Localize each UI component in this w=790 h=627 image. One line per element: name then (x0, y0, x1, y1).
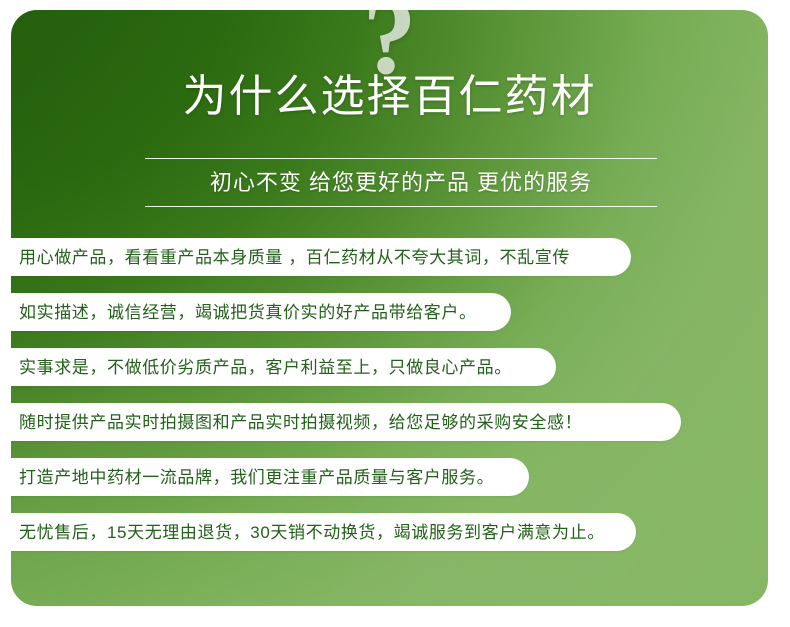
feature-pill-5: 打造产地中药材一流品牌，我们更注重产品质量与客户服务。 (11, 458, 529, 496)
feature-text: 无忧售后，15天无理由退货，30天销不动换货，竭诚服务到客户满意为止。 (19, 524, 605, 541)
rule-bottom (145, 206, 657, 207)
list-item: 随时提供产品实时拍摄图和产品实时拍摄视频，给您足够的采购安全感！ (11, 403, 768, 441)
feature-pill-1: 用心做产品，看看重产品本身质量 ，百仁药材从不夸大其词，不乱宣传 (11, 238, 631, 276)
list-item: 无忧售后，15天无理由退货，30天销不动换货，竭诚服务到客户满意为止。 (11, 513, 768, 551)
banner-title: 为什么选择百仁药材 (11, 68, 768, 125)
feature-pill-6: 无忧售后，15天无理由退货，30天销不动换货，竭诚服务到客户满意为止。 (11, 513, 636, 551)
banner-subtitle: 初心不变 给您更好的产品 更优的服务 (145, 159, 657, 206)
list-item: 如实描述，诚信经营，竭诚把货真价实的好产品带给客户。 (11, 293, 768, 331)
promo-banner: ? 为什么选择百仁药材 初心不变 给您更好的产品 更优的服务 用心做产品，看看重… (0, 0, 790, 627)
feature-pill-3: 实事求是，不做低价劣质产品，客户利益至上，只做良心产品。 (11, 348, 556, 386)
feature-text: 随时提供产品实时拍摄图和产品实时拍摄视频，给您足够的采购安全感！ (19, 414, 582, 431)
list-item: 用心做产品，看看重产品本身质量 ，百仁药材从不夸大其词，不乱宣传 (11, 238, 768, 276)
subtitle-block: 初心不变 给您更好的产品 更优的服务 (145, 158, 657, 207)
list-item: 打造产地中药材一流品牌，我们更注重产品质量与客户服务。 (11, 458, 768, 496)
feature-list: 用心做产品，看看重产品本身质量 ，百仁药材从不夸大其词，不乱宣传 如实描述，诚信… (11, 238, 768, 568)
banner-header: ? 为什么选择百仁药材 初心不变 给您更好的产品 更优的服务 (11, 10, 768, 220)
green-panel: ? 为什么选择百仁药材 初心不变 给您更好的产品 更优的服务 用心做产品，看看重… (11, 10, 768, 606)
feature-text: 打造产地中药材一流品牌，我们更注重产品质量与客户服务。 (19, 469, 494, 486)
feature-pill-4: 随时提供产品实时拍摄图和产品实时拍摄视频，给您足够的采购安全感！ (11, 403, 681, 441)
list-item: 实事求是，不做低价劣质产品，客户利益至上，只做良心产品。 (11, 348, 768, 386)
feature-pill-2: 如实描述，诚信经营，竭诚把货真价实的好产品带给客户。 (11, 293, 511, 331)
feature-text: 如实描述，诚信经营，竭诚把货真价实的好产品带给客户。 (19, 304, 477, 321)
feature-text: 用心做产品，看看重产品本身质量 ，百仁药材从不夸大其词，不乱宣传 (19, 249, 570, 266)
feature-text: 实事求是，不做低价劣质产品，客户利益至上，只做良心产品。 (19, 359, 512, 376)
